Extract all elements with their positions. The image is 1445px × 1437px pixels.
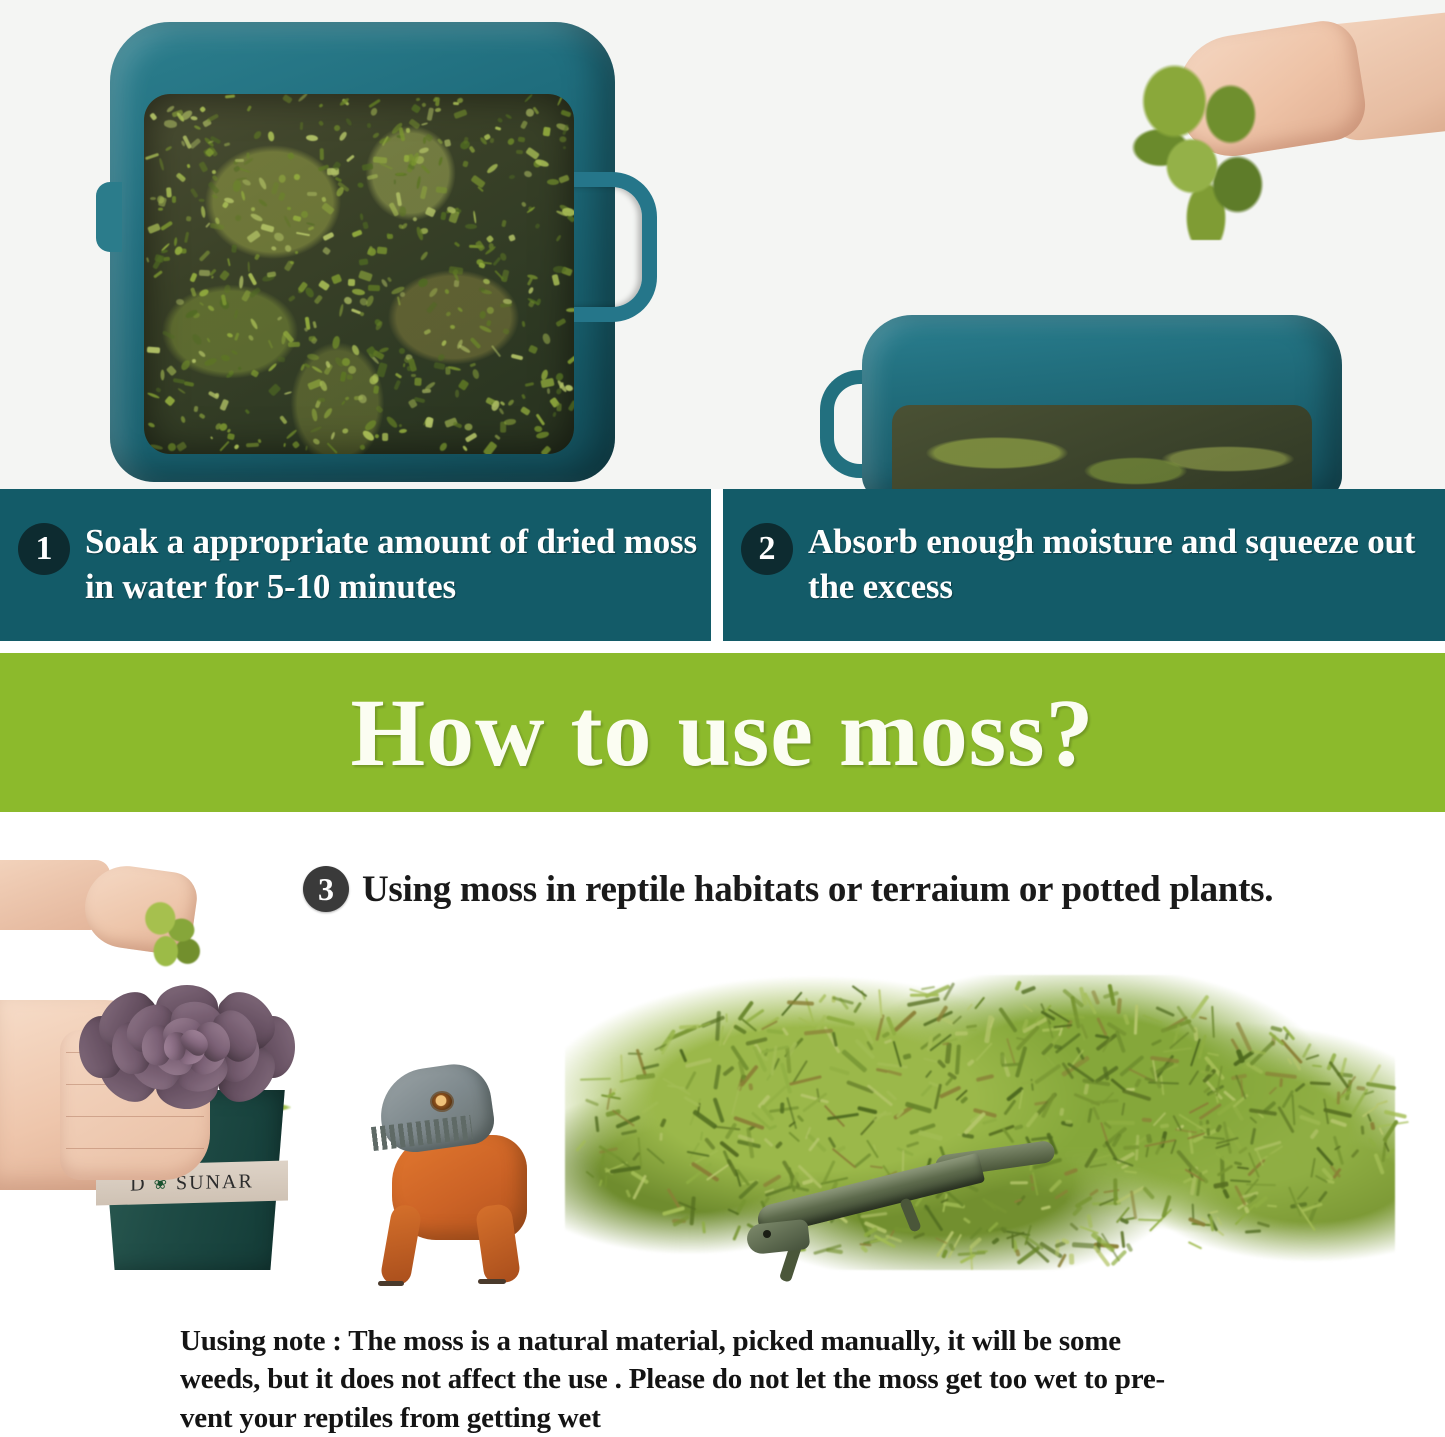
moss-fleck xyxy=(427,107,434,120)
moss-fleck xyxy=(423,329,431,336)
step-3-text: Using moss in reptile habitats or terrai… xyxy=(362,868,1273,911)
moss-fleck xyxy=(219,399,229,411)
moss-fleck xyxy=(403,363,406,368)
moss-fleck xyxy=(435,98,440,107)
caption-divider xyxy=(711,489,723,641)
moss-fleck xyxy=(464,423,472,430)
moss-fleck xyxy=(470,363,477,368)
moss-fleck xyxy=(479,287,485,292)
moss-strand xyxy=(1106,1121,1135,1125)
moss-strand xyxy=(1216,1123,1223,1132)
moss-strand xyxy=(1074,1195,1092,1208)
moss-fleck xyxy=(173,236,177,246)
moss-fleck xyxy=(368,285,380,291)
moss-fleck xyxy=(165,395,176,406)
moss-fleck xyxy=(247,105,252,112)
moss-strand xyxy=(1175,1128,1197,1134)
moss-strand xyxy=(1299,1115,1321,1126)
moss-fleck xyxy=(273,231,286,242)
moss-fleck xyxy=(311,408,319,421)
moss-fleck xyxy=(278,174,286,183)
moss-fleck xyxy=(484,246,496,256)
moss-fleck xyxy=(311,365,323,374)
moss-fleck xyxy=(207,181,219,194)
moss-strand xyxy=(976,1074,994,1082)
moss-fleck xyxy=(566,355,574,365)
moss-fleck xyxy=(200,206,206,219)
moss-fleck xyxy=(468,146,475,154)
step-2-text: Absorb enough moisture and squeeze out t… xyxy=(808,520,1445,610)
moss-strand xyxy=(642,1101,659,1114)
moss-strand xyxy=(1362,1105,1378,1117)
moss-strand xyxy=(1121,1103,1125,1116)
moss-strand xyxy=(1310,1128,1320,1139)
moss-fleck xyxy=(445,311,452,318)
moss-strand xyxy=(841,1050,867,1074)
moss-fleck xyxy=(228,369,235,375)
moss-strand xyxy=(1288,1187,1301,1217)
moss-fleck xyxy=(375,405,383,413)
moss-strand xyxy=(1251,1127,1257,1144)
moss-strand xyxy=(662,1206,685,1216)
moss-fleck xyxy=(556,388,563,395)
moss-strand xyxy=(585,1170,595,1178)
moss-strand xyxy=(918,1130,943,1141)
moss-strand xyxy=(1092,1106,1100,1120)
moss-strand xyxy=(1122,1088,1151,1101)
moss-strand xyxy=(974,997,985,1010)
moss-fleck xyxy=(425,207,436,218)
moss-strand xyxy=(1296,1186,1309,1201)
moss-strand xyxy=(1003,1100,1016,1116)
moss-fleck xyxy=(296,232,310,237)
moss-strand xyxy=(725,1122,738,1139)
moss-fleck xyxy=(437,138,444,145)
moss-fleck xyxy=(359,258,369,265)
moss-strand xyxy=(704,1137,716,1150)
moss-fleck xyxy=(358,270,373,282)
moss-strand xyxy=(769,1106,799,1113)
moss-fleck xyxy=(284,443,287,447)
moss-strand xyxy=(893,1009,918,1032)
moss-strand xyxy=(1041,1042,1055,1056)
step-1-badge: 1 xyxy=(18,523,70,575)
moss-fleck xyxy=(147,392,160,400)
moss-fleck xyxy=(166,365,177,376)
moss-fleck xyxy=(341,401,346,406)
page-title: How to use moss? xyxy=(350,685,1094,781)
moss-fleck xyxy=(211,275,215,279)
moss-fleck xyxy=(359,213,363,220)
moss-fleck xyxy=(559,136,566,142)
moss-fleck xyxy=(474,240,485,252)
moss-fleck xyxy=(342,358,350,366)
moss-strand xyxy=(852,1002,862,1014)
moss-fleck xyxy=(434,362,446,370)
moss-fleck xyxy=(398,347,405,354)
moss-fleck xyxy=(248,286,261,298)
moss-strand xyxy=(1267,1204,1277,1207)
moss-strand xyxy=(1229,1179,1250,1182)
moss-fleck xyxy=(425,417,433,428)
moss-strand xyxy=(905,1101,932,1113)
moss-fleck xyxy=(517,137,524,143)
moss-strand xyxy=(1065,1119,1072,1123)
moss-fleck xyxy=(499,408,505,416)
moss-strand xyxy=(641,1063,659,1070)
moss-fleck xyxy=(283,215,291,228)
moss-fleck xyxy=(258,177,269,191)
moss-fleck xyxy=(308,226,315,231)
moss-fleck xyxy=(372,156,386,164)
moss-strand xyxy=(1211,1006,1214,1038)
moss-strand xyxy=(988,1124,1014,1136)
moss-fleck xyxy=(436,187,447,194)
moss-strand xyxy=(1199,1016,1207,1020)
moss-fleck xyxy=(160,221,172,231)
moss-strand xyxy=(1305,1054,1319,1061)
moss-fleck xyxy=(375,433,381,439)
moss-strand xyxy=(1054,1044,1062,1049)
moss-fleck xyxy=(491,345,501,357)
moss-strand xyxy=(1206,1051,1218,1056)
moss-fleck xyxy=(543,126,551,136)
moss-fleck xyxy=(541,445,552,454)
moss-fleck xyxy=(444,288,450,295)
moss-fleck xyxy=(206,337,210,342)
moss-fleck xyxy=(164,120,178,129)
moss-fleck xyxy=(338,131,347,142)
moss-fleck xyxy=(516,150,523,154)
moss-strand xyxy=(1060,1107,1065,1115)
moss-fleck xyxy=(231,349,239,355)
moss-fleck xyxy=(541,378,555,388)
moss-strand xyxy=(852,985,868,997)
moss-fleck xyxy=(318,120,324,126)
moss-fleck xyxy=(147,346,160,353)
moss-fleck xyxy=(326,443,337,454)
moss-strand xyxy=(1123,1014,1130,1025)
moss-fleck xyxy=(547,388,551,394)
moss-strand xyxy=(585,1099,599,1107)
moss-strand xyxy=(1063,1167,1078,1176)
moss-fleck xyxy=(395,372,403,379)
moss-fleck xyxy=(247,152,250,158)
moss-fleck xyxy=(190,187,199,198)
moss-fleck xyxy=(490,138,495,143)
moss-fleck xyxy=(331,336,341,350)
moss-strand xyxy=(1142,1014,1162,1023)
moss-fleck xyxy=(219,441,230,452)
moss-fleck xyxy=(419,147,430,155)
moss-fleck xyxy=(293,216,302,223)
moss-fleck xyxy=(351,229,362,237)
moss-fleck xyxy=(485,305,495,315)
moss-strand xyxy=(1316,1147,1334,1167)
moss-fleck xyxy=(344,396,349,400)
moss-fleck xyxy=(198,161,209,173)
moss-fleck xyxy=(471,369,479,380)
moss-fleck xyxy=(472,210,476,223)
moss-fleck xyxy=(226,332,233,338)
step-2-badge: 2 xyxy=(741,523,793,575)
moss-fleck xyxy=(426,301,438,314)
moss-fleck xyxy=(306,353,319,361)
moss-fleck xyxy=(556,318,567,328)
moss-fleck xyxy=(352,288,365,296)
moss-strand xyxy=(1360,1126,1363,1135)
moss-fleck xyxy=(436,352,446,361)
moss-fleck xyxy=(495,433,502,440)
moss-strand xyxy=(1069,1222,1078,1231)
moss-strand xyxy=(1159,1123,1168,1128)
moss-strand xyxy=(1188,1241,1202,1250)
moss-fleck xyxy=(504,113,512,120)
moss-strand xyxy=(1116,998,1121,1015)
moss-fleck xyxy=(194,125,201,130)
moss-fleck xyxy=(233,165,241,173)
moss-fleck xyxy=(421,102,426,108)
step-captions-row: 1 Soak a appropriate amount of dried mos… xyxy=(0,489,1445,641)
moss-fleck xyxy=(282,94,293,104)
moss-fleck xyxy=(453,109,468,120)
moss-fleck xyxy=(207,113,219,122)
iguana-eye xyxy=(430,1091,454,1112)
basin2-moss-water xyxy=(892,405,1312,489)
moss-fleck xyxy=(483,441,497,454)
moss-fleck xyxy=(313,294,323,304)
moss-fleck xyxy=(250,370,259,379)
moss-fleck xyxy=(172,196,176,203)
moss-strand xyxy=(1269,1087,1277,1095)
moss-fleck xyxy=(219,269,230,280)
moss-fleck xyxy=(567,399,574,411)
moss-fleck xyxy=(244,409,249,414)
moss-fleck xyxy=(414,377,422,386)
moss-strand xyxy=(967,1003,973,1010)
moss-fleck xyxy=(340,371,347,382)
moss-fleck xyxy=(428,287,439,299)
moss-fleck xyxy=(318,280,331,292)
moss-fleck xyxy=(297,94,308,103)
moss-strand xyxy=(967,1059,975,1067)
moss-fleck xyxy=(393,380,400,391)
moss-strand xyxy=(829,1066,850,1076)
moss-strand xyxy=(595,1116,599,1132)
step-photos-row xyxy=(0,0,1445,489)
moss-strand xyxy=(698,1022,711,1028)
moss-fleck xyxy=(267,363,277,372)
moss-fleck xyxy=(566,308,574,313)
moss-strand xyxy=(1329,1119,1347,1129)
moss-fleck xyxy=(455,390,459,398)
moss-strand xyxy=(621,1130,637,1136)
moss-pinch-icon xyxy=(133,895,211,973)
moss-fleck xyxy=(333,124,341,132)
moss-fleck xyxy=(335,187,345,198)
moss-fleck xyxy=(319,103,324,108)
moss-strand xyxy=(726,1014,728,1023)
moss-strand xyxy=(826,1015,855,1026)
moss-fleck xyxy=(510,353,522,360)
step-2-photo xyxy=(722,0,1445,489)
moss-strand xyxy=(1280,1078,1284,1087)
moss-strand xyxy=(1249,1116,1256,1123)
moss-fleck xyxy=(287,152,295,160)
moss-fleck xyxy=(504,418,517,425)
moss-fleck xyxy=(500,400,506,406)
moss-clump-icon xyxy=(1122,55,1297,240)
moss-fleck xyxy=(339,304,345,317)
moss-strand xyxy=(672,1215,690,1227)
moss-fleck xyxy=(211,174,218,181)
moss-fleck xyxy=(386,277,391,283)
moss-strand xyxy=(955,1031,968,1036)
moss-fleck xyxy=(393,179,395,185)
moss-fleck xyxy=(199,301,205,306)
moss-fleck xyxy=(438,157,443,166)
moss-fleck xyxy=(334,176,341,181)
moss-fleck xyxy=(331,274,343,285)
moss-fleck xyxy=(292,441,300,450)
moss-fleck xyxy=(486,320,492,327)
moss-fleck xyxy=(420,164,430,174)
moss-fleck xyxy=(247,229,262,242)
moss-fleck xyxy=(508,175,515,180)
banner-top-gap xyxy=(0,641,1445,653)
moss-fleck xyxy=(557,94,564,106)
moss-fleck xyxy=(373,385,379,394)
iguana-icon xyxy=(352,1055,562,1285)
moss-strand xyxy=(1368,1064,1382,1084)
moss-fleck xyxy=(208,391,219,400)
moss-fleck xyxy=(382,433,388,441)
moss-fleck xyxy=(146,258,150,264)
moss-fleck xyxy=(198,289,209,299)
moss-fleck xyxy=(318,380,328,393)
moss-fleck xyxy=(520,407,530,416)
moss-strand xyxy=(1188,1131,1194,1155)
moss-fleck xyxy=(372,374,379,383)
moss-fleck xyxy=(150,197,157,200)
moss-strand xyxy=(796,1115,804,1123)
moss-fleck xyxy=(362,222,368,230)
moss-fleck xyxy=(542,332,552,344)
usage-note: Uusing note : The moss is a natural mate… xyxy=(180,1322,1300,1437)
moss-strand xyxy=(856,1106,877,1115)
moss-strand xyxy=(1086,1108,1092,1124)
moss-strand xyxy=(968,1029,977,1031)
moss-strand xyxy=(1237,1167,1249,1171)
moss-fleck xyxy=(525,146,540,160)
moss-strand xyxy=(713,1097,725,1123)
moss-fleck xyxy=(294,251,297,254)
basin-handle-icon xyxy=(572,172,657,322)
moss-fleck xyxy=(385,415,399,429)
moss-fleck xyxy=(356,182,363,189)
moss-fleck xyxy=(359,444,366,451)
moss-fleck xyxy=(348,279,355,287)
moss-fleck xyxy=(560,109,571,117)
moss-fleck xyxy=(254,253,261,261)
moss-fleck xyxy=(312,321,317,329)
moss-strand xyxy=(1034,1063,1062,1084)
moss-strand xyxy=(1370,1122,1376,1130)
moss-strand xyxy=(1234,1161,1243,1166)
moss-strand xyxy=(1188,1070,1199,1086)
moss-strand xyxy=(1203,1136,1225,1141)
step-3-badge: 3 xyxy=(303,866,349,912)
moss-fleck xyxy=(189,272,197,282)
moss-fleck xyxy=(268,340,274,349)
moss-strand xyxy=(580,1077,611,1080)
moss-strand xyxy=(1124,1170,1137,1174)
moss-fleck xyxy=(305,445,308,450)
moss-fleck xyxy=(203,356,217,366)
moss-fleck xyxy=(462,445,468,452)
step-2-caption: 2 Absorb enough moisture and squeeze out… xyxy=(723,489,1445,641)
moss-fleck xyxy=(521,202,527,208)
moss-strand xyxy=(732,1225,741,1241)
moss-fleck xyxy=(238,366,243,371)
moss-strand xyxy=(1091,989,1101,1004)
moss-fleck xyxy=(551,274,560,286)
moss-strand xyxy=(1310,1082,1331,1086)
moss-fleck xyxy=(234,213,242,221)
moss-fleck xyxy=(483,278,491,285)
moss-fleck xyxy=(556,235,562,242)
moss-fleck xyxy=(536,298,542,306)
moss-fleck xyxy=(376,246,387,254)
moss-strand xyxy=(998,1007,1018,1033)
moss-fleck xyxy=(456,307,463,313)
moss-strand xyxy=(1087,1214,1093,1228)
moss-fleck xyxy=(209,436,213,440)
moss-fleck xyxy=(212,194,218,199)
moss-strand xyxy=(955,1045,961,1075)
moss-strand xyxy=(598,1179,602,1186)
moss-fleck xyxy=(359,312,364,317)
how-to-banner: How to use moss? xyxy=(0,653,1445,812)
moss-strand xyxy=(1216,1217,1222,1225)
moss-strand xyxy=(921,985,935,989)
moss-strand xyxy=(1134,1078,1142,1088)
moss-fleck xyxy=(194,406,199,412)
moss-strand xyxy=(945,1042,952,1063)
moss-strand xyxy=(1151,1038,1162,1045)
moss-fleck xyxy=(497,118,503,124)
pot-brand-right: SUNAR xyxy=(176,1170,254,1195)
moss-strand xyxy=(1240,1079,1243,1097)
moss-fleck xyxy=(321,202,335,215)
moss-fleck xyxy=(249,213,263,224)
moss-strand xyxy=(1222,1188,1230,1199)
moss-fleck xyxy=(364,419,378,432)
moss-strand xyxy=(1378,1127,1383,1135)
moss-fleck xyxy=(258,439,263,444)
moss-fleck xyxy=(494,126,501,131)
moss-strand xyxy=(575,1139,587,1152)
moss-strand xyxy=(1021,986,1037,996)
moss-strand xyxy=(910,993,939,996)
moss-fleck xyxy=(535,223,541,230)
moss-fleck xyxy=(558,174,570,183)
moss-strand xyxy=(1350,1149,1359,1158)
moss-fleck xyxy=(368,98,380,107)
moss-fleck xyxy=(250,318,260,331)
step-1-text: Soak a appropriate amount of dried moss … xyxy=(85,520,711,610)
moss-fleck xyxy=(238,276,243,289)
